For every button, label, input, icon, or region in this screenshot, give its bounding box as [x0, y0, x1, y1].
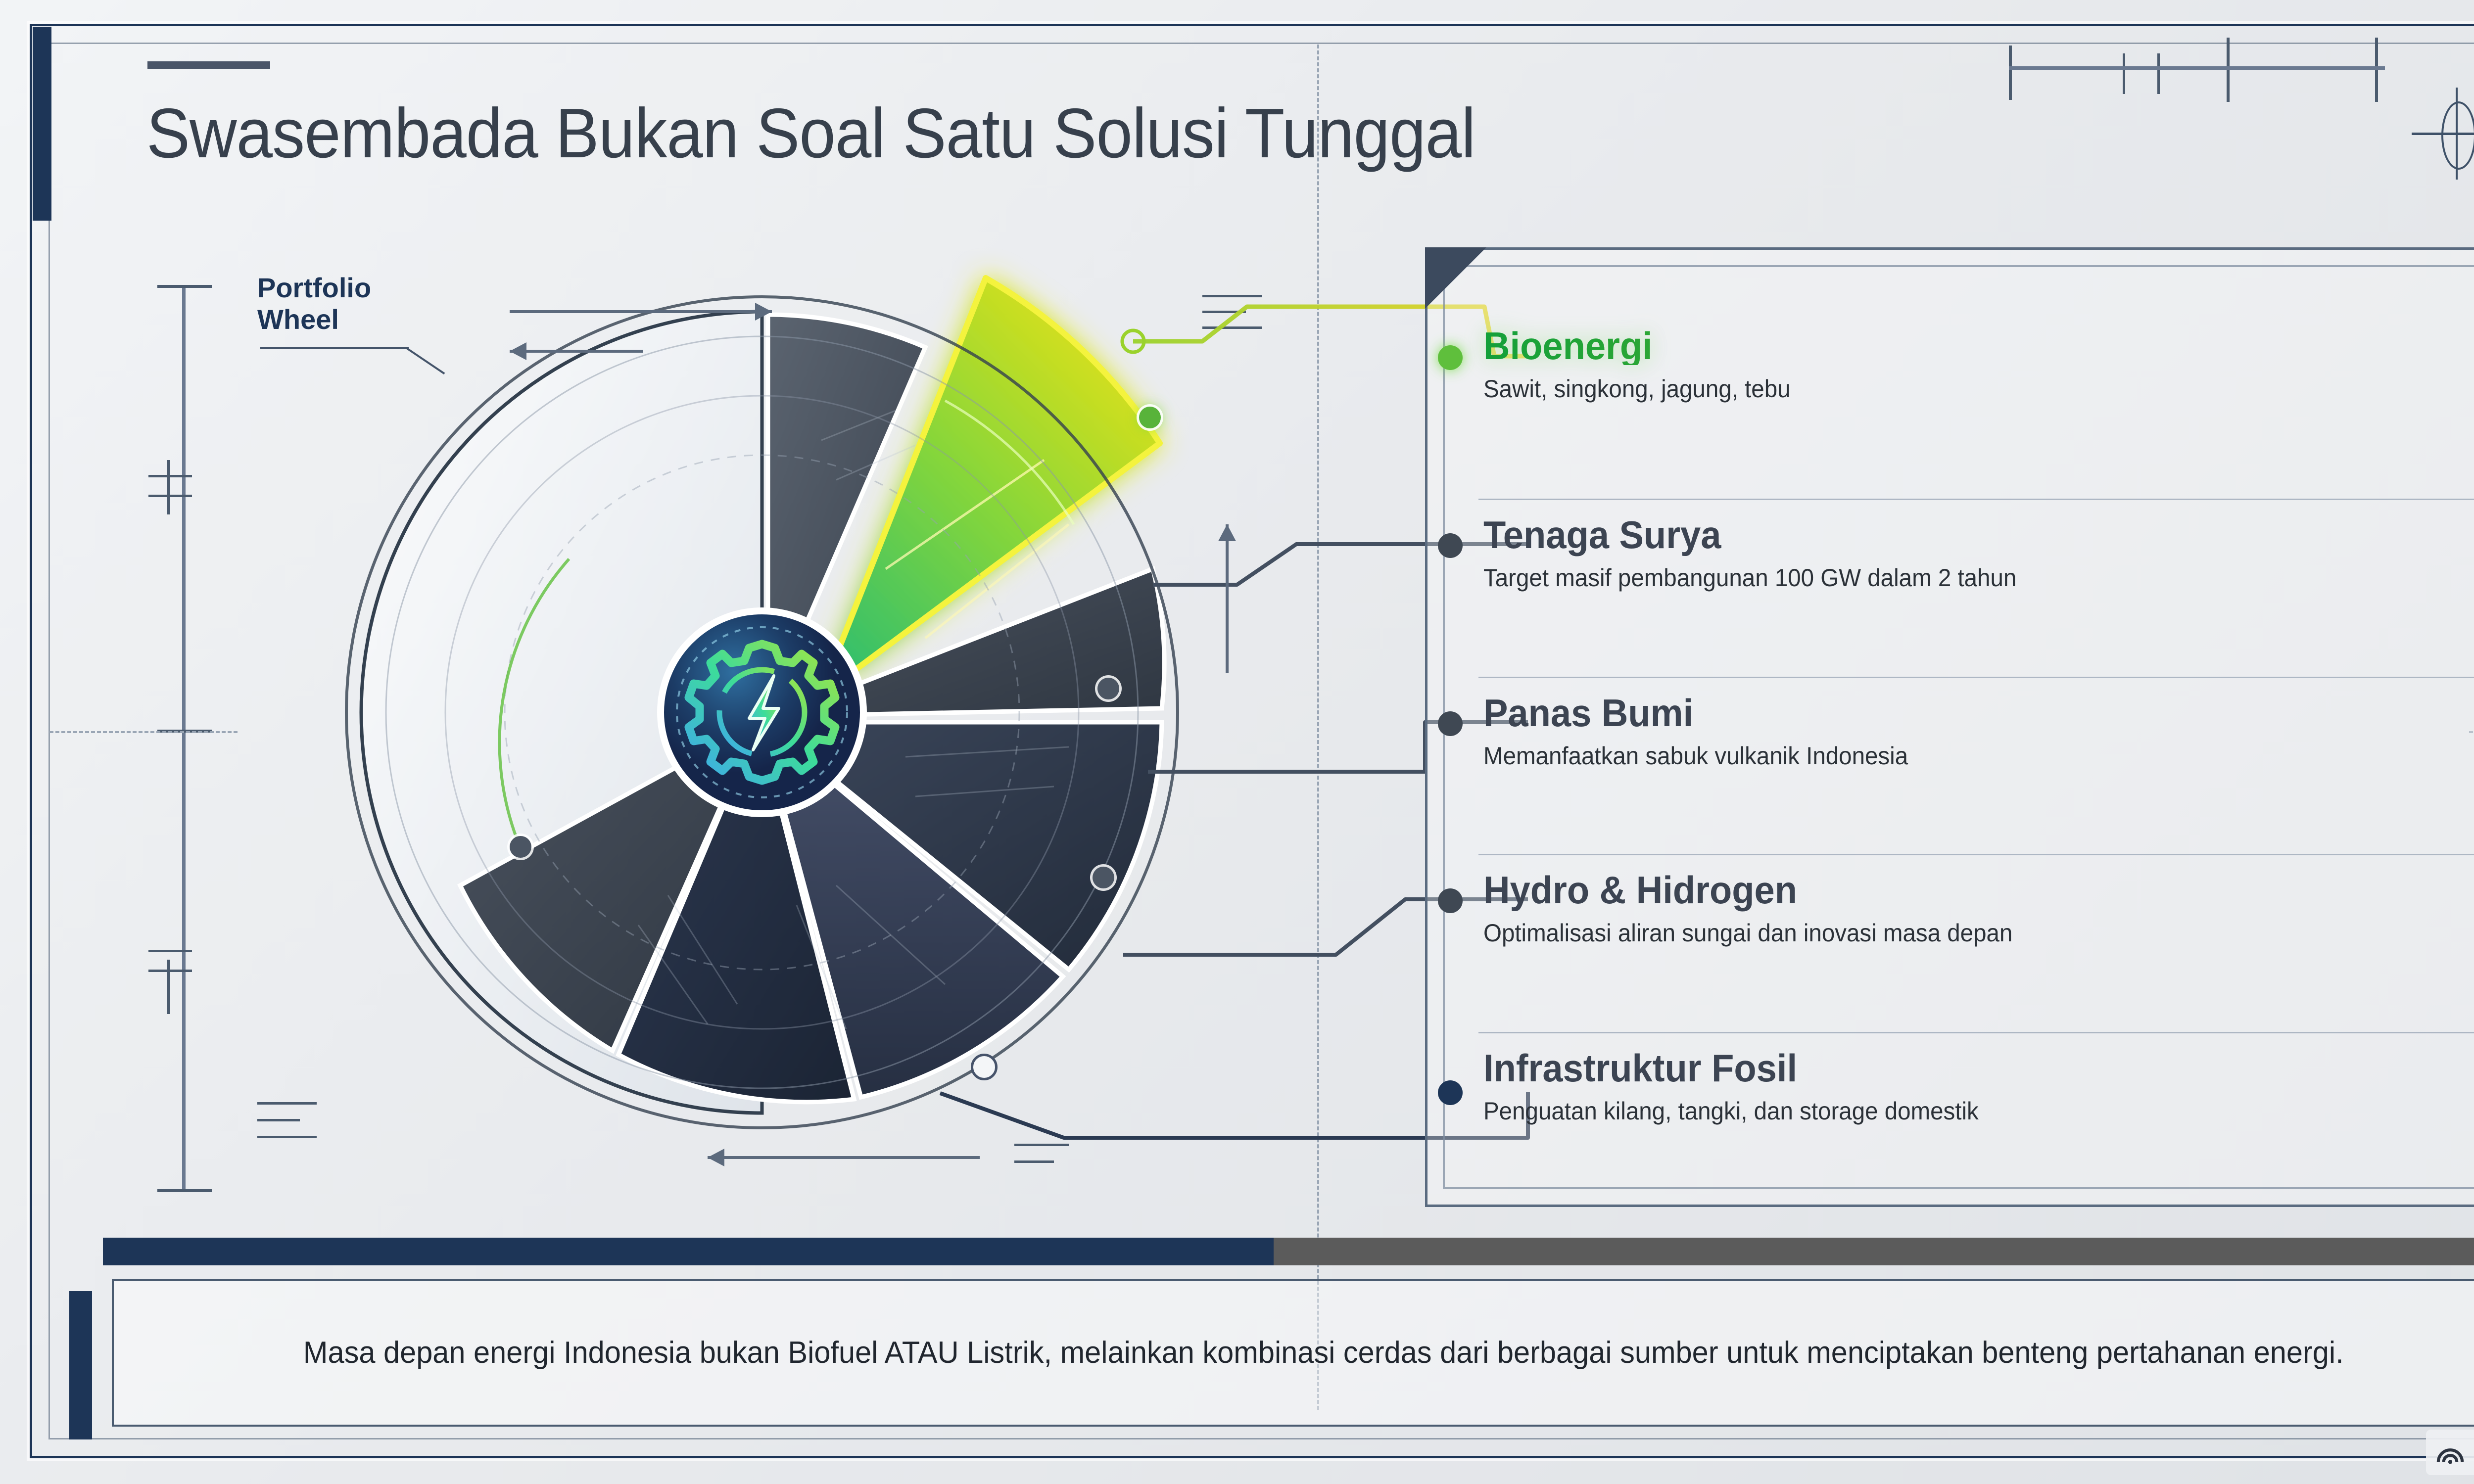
accent-bar-bottom-left: [69, 1291, 92, 1439]
list-item-desc: Penguatan kilang, tangki, dan storage do…: [1483, 1098, 2453, 1124]
portfolio-wheel-label: Portfolio Wheel: [257, 272, 371, 336]
notebooklm-watermark: NotebookLM: [2426, 1430, 2474, 1475]
list-item-hydro-hidrogen[interactable]: Hydro & Hidrogen Optimalisasi aliran sun…: [1483, 871, 2474, 946]
portfolio-wheel-label-line1: Portfolio: [257, 272, 371, 304]
notebooklm-logo-icon: [2436, 1438, 2465, 1467]
page-title: Swasembada Bukan Soal Satu Solusi Tungga…: [146, 93, 1475, 174]
tick-mark: [2375, 38, 2378, 102]
list-item-desc: Memanfaatkan sabuk vulkanik Indonesia: [1483, 743, 2453, 769]
list-item-bioenergi[interactable]: Bioenergi Sawit, singkong, jagung, tebu: [1483, 326, 2474, 402]
centerline-vertical: [1317, 45, 1319, 1410]
list-divider: [1478, 854, 2474, 855]
list-item-title: Bioenergi: [1483, 326, 2453, 365]
wheel-dot-panas-bumi[interactable]: [1093, 867, 1114, 888]
list-item-title: Tenaga Surya: [1483, 515, 2453, 554]
tick-mark: [2123, 53, 2125, 94]
wheel-dot-aux: [510, 836, 531, 858]
list-item-tenaga-surya[interactable]: Tenaga Surya Target masif pembangunan 10…: [1483, 515, 2474, 591]
energy-sources-panel: Bioenergi Sawit, singkong, jagung, tebu …: [1425, 247, 2474, 1207]
corner-notch-top-left: [1425, 247, 1486, 309]
bullet-tenaga-surya[interactable]: [1438, 533, 1463, 558]
list-item-desc: Sawit, singkong, jagung, tebu: [1483, 376, 2453, 402]
bullet-hydro-hidrogen[interactable]: [1438, 888, 1463, 913]
wheel-dot-hydro[interactable]: [971, 1054, 998, 1080]
wheel-dot-bioenergi[interactable]: [1139, 407, 1161, 428]
list-divider: [1478, 677, 2474, 678]
list-item-panas-bumi[interactable]: Panas Bumi Memanfaatkan sabuk vulkanik I…: [1483, 694, 2474, 769]
infographic-canvas: Swasembada Bukan Soal Satu Solusi Tungga…: [0, 0, 2474, 1484]
registration-target-icon: [2425, 101, 2474, 166]
list-item-infrastruktur-fosil[interactable]: Infrastruktur Fosil Penguatan kilang, ta…: [1483, 1049, 2474, 1124]
dimension-line: [2009, 66, 2385, 70]
caption-box: Masa depan energi Indonesia bukan Biofue…: [112, 1279, 2474, 1427]
accent-bar-top-left: [33, 27, 51, 221]
portfolio-wheel-label-line2: Wheel: [257, 304, 371, 335]
tick-mark: [2157, 53, 2160, 94]
bullet-infrastruktur-fosil[interactable]: [1438, 1080, 1463, 1105]
bullet-bioenergi[interactable]: [1438, 345, 1463, 370]
portfolio-wheel-diagram: Portfolio Wheel: [163, 232, 1301, 1172]
list-item-title: Hydro & Hidrogen: [1483, 871, 2453, 909]
bullet-panas-bumi[interactable]: [1438, 711, 1463, 736]
pie-wheel: [361, 312, 1163, 1113]
wheel-dot-tenaga-surya[interactable]: [1097, 678, 1119, 699]
list-item-title: Panas Bumi: [1483, 694, 2453, 732]
list-divider: [1478, 1032, 2474, 1033]
progress-bar-fill: [103, 1238, 1274, 1265]
list-item-desc: Target masif pembangunan 100 GW dalam 2 …: [1483, 565, 2453, 591]
tick-mark: [2009, 46, 2012, 100]
progress-bar-track: [103, 1238, 2474, 1265]
list-item-desc: Optimalisasi aliran sungai dan inovasi m…: [1483, 920, 2453, 946]
list-divider: [1478, 499, 2474, 500]
title-accent-rule: [147, 61, 270, 69]
tick-mark: [2227, 38, 2230, 102]
list-item-title: Infrastruktur Fosil: [1483, 1049, 2453, 1087]
dimension-arrow: [157, 1189, 212, 1192]
caption-text: Masa depan energi Indonesia bukan Biofue…: [303, 1333, 2344, 1373]
